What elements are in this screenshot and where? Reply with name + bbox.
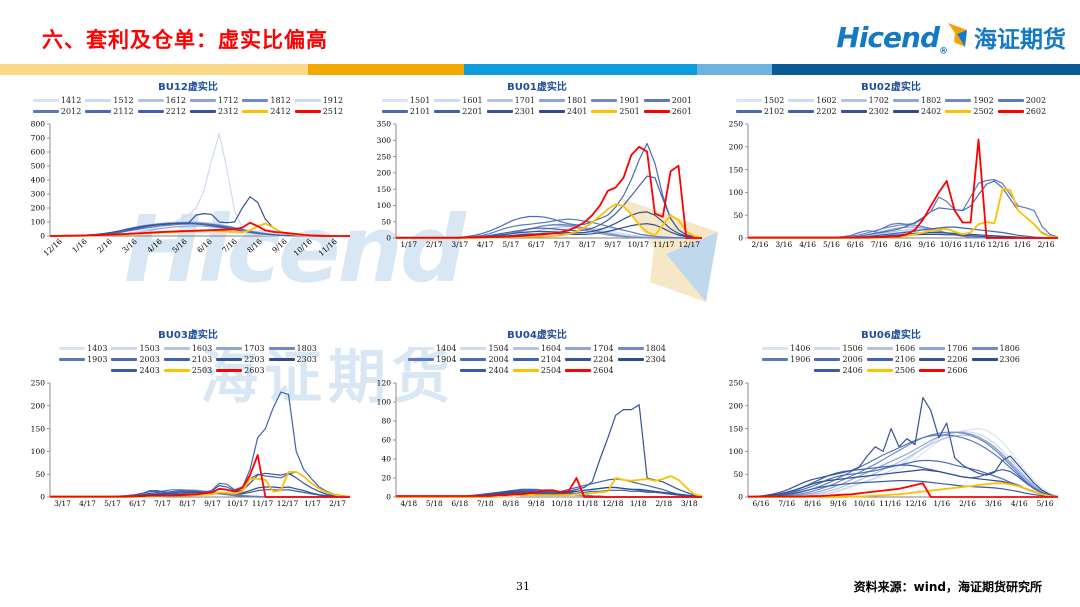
legend-label: 1506 (842, 344, 862, 353)
legend-row: 240325032603 (109, 366, 266, 375)
legend-item-2102[interactable]: 2102 (736, 107, 784, 116)
legend-label: 2503 (192, 366, 212, 375)
y-tick-label: 150 (377, 185, 392, 194)
x-tick-label: 7/17 (154, 499, 171, 508)
chart-plot-bu12: 010020030040050060070080012/161/162/163/… (18, 118, 358, 270)
legend-item-2402[interactable]: 2402 (893, 107, 941, 116)
legend-item-1712[interactable]: 1712 (190, 96, 238, 105)
legend-label: 1901 (619, 96, 639, 105)
legend-label: 1912 (323, 96, 343, 105)
legend-swatch-icon (164, 347, 190, 350)
legend-label: 2406 (842, 366, 862, 375)
legend-item-1502[interactable]: 1502 (736, 96, 784, 105)
legend-label: 1512 (113, 96, 133, 105)
legend-label: 2506 (895, 366, 915, 375)
x-tick-label: 9/17 (604, 240, 621, 249)
legend-item-1612[interactable]: 1612 (138, 96, 186, 105)
x-tick-label: 10/17 (627, 240, 649, 249)
chart-title-bu04: BU04虚实比 (364, 326, 710, 341)
legend-row: 19042004210422042304 (406, 355, 668, 364)
chart-legend-bu03: 1403150316031703180319032003210322032303… (18, 344, 358, 375)
color-bar-segment-2 (308, 64, 465, 75)
legend-item-1802[interactable]: 1802 (893, 96, 941, 105)
legend-label: 2606 (947, 366, 967, 375)
legend-swatch-icon (190, 110, 216, 113)
chart-legend-bu12: 1412151216121712181219122012211222122312… (18, 96, 358, 116)
legend-item-1602[interactable]: 1602 (788, 96, 836, 105)
legend-label: 2004 (488, 355, 508, 364)
x-tick-label: 9/16 (270, 237, 289, 255)
page-footer: 31 资料来源：wind，海证期货研究所 (0, 578, 1080, 607)
logo-wordmark: Hicend® (836, 24, 947, 57)
y-tick-label: 300 (31, 190, 46, 199)
legend-swatch-icon (111, 358, 137, 361)
legend-label: 1403 (87, 344, 107, 353)
x-tick-label: 7/17 (553, 240, 570, 249)
x-tick-label: 3/16 (120, 237, 139, 255)
color-bar-segment-5 (772, 64, 1080, 75)
legend-item-1903[interactable]: 1903 (59, 355, 107, 364)
legend-item-2001[interactable]: 2001 (644, 96, 692, 105)
legend-item-2306[interactable]: 2306 (972, 355, 1020, 364)
y-tick-label: 0 (386, 234, 391, 243)
legend-item-2112[interactable]: 2112 (85, 107, 133, 116)
legend-item-2002[interactable]: 2002 (998, 96, 1046, 105)
legend-swatch-icon (867, 358, 893, 361)
y-tick-label: 0 (40, 493, 45, 502)
y-tick-label: 100 (377, 201, 392, 210)
chart-legend-bu04: 1404150416041704180419042004210422042304… (364, 344, 710, 375)
legend-swatch-icon (814, 369, 840, 372)
legend-label: 2512 (323, 107, 343, 116)
chart-title-bu06: BU06虚实比 (716, 326, 1066, 341)
legend-label: 2102 (764, 107, 784, 116)
legend-swatch-icon (814, 358, 840, 361)
legend-item-2501[interactable]: 2501 (591, 107, 639, 116)
legend-item-2312[interactable]: 2312 (190, 107, 238, 116)
chart-plot-bu02: 0501001502002502/163/164/165/166/167/168… (716, 118, 1066, 258)
legend-swatch-icon (460, 369, 486, 372)
legend-label: 2401 (567, 107, 587, 116)
legend-label: 1804 (646, 344, 666, 353)
x-tick-label: 1/16 (933, 499, 950, 508)
legend-swatch-icon (33, 99, 59, 102)
y-tick-label: 400 (31, 176, 46, 185)
series-line-2103 (50, 392, 350, 497)
x-tick-label: 3/17 (451, 240, 468, 249)
x-tick-label: 5/17 (104, 499, 121, 508)
x-tick-label: 9/18 (528, 499, 545, 508)
legend-label: 1812 (270, 96, 290, 105)
legend-item-2504[interactable]: 2504 (513, 366, 561, 375)
legend-swatch-icon (242, 99, 268, 102)
series-line-2206 (748, 398, 1058, 497)
legend-label: 2112 (113, 107, 133, 116)
legend-label: 2412 (270, 107, 290, 116)
legend-label: 1604 (541, 344, 561, 353)
y-tick-label: 20 (381, 474, 391, 483)
legend-item-2412[interactable]: 2412 (242, 107, 290, 116)
x-tick-label: 3/16 (985, 499, 1002, 508)
x-tick-label: 4/16 (145, 237, 164, 255)
legend-item-2103[interactable]: 2103 (164, 355, 212, 364)
legend-label: 2312 (218, 107, 238, 116)
legend-swatch-icon (867, 347, 893, 350)
legend-swatch-icon (867, 369, 893, 372)
x-tick-label: 8/16 (245, 237, 264, 255)
legend-item-2202[interactable]: 2202 (788, 107, 836, 116)
legend-row: 19062006210622062306 (760, 355, 1022, 364)
legend-label: 2402 (921, 107, 941, 116)
legend-item-1403[interactable]: 1403 (59, 344, 107, 353)
legend-swatch-icon (111, 369, 137, 372)
legend-item-1701[interactable]: 1701 (487, 96, 535, 105)
legend-swatch-icon (539, 99, 565, 102)
legend-item-2403[interactable]: 2403 (111, 366, 159, 375)
x-tick-label: 6/17 (528, 240, 545, 249)
legend-item-1801[interactable]: 1801 (539, 96, 587, 105)
legend-item-2304[interactable]: 2304 (618, 355, 666, 364)
legend-swatch-icon (591, 99, 617, 102)
chart-legend-bu02: 1502160217021802190220022102220223022402… (716, 96, 1066, 116)
chart-plot-bu03: 0501001502002503/174/175/176/177/178/179… (18, 377, 358, 517)
legend-item-2012[interactable]: 2012 (33, 107, 81, 116)
y-tick-label: 100 (729, 447, 744, 456)
y-tick-label: 200 (31, 402, 46, 411)
y-tick-label: 0 (40, 232, 45, 241)
legend-swatch-icon (59, 358, 85, 361)
legend-label: 2101 (410, 107, 430, 116)
x-tick-label: 1/18 (630, 499, 647, 508)
y-tick-label: 60 (381, 436, 391, 445)
chart-cell-bu01: BU01虚实比150116011701180119012001210122012… (364, 78, 710, 258)
legend-item-1906[interactable]: 1906 (762, 355, 810, 364)
legend-item-2201[interactable]: 2201 (434, 107, 482, 116)
chart-legend-bu01: 1501160117011801190120012101220123012401… (364, 96, 710, 116)
legend-row: 210122012301240125012601 (380, 107, 694, 116)
legend-swatch-icon (111, 347, 137, 350)
legend-label: 1706 (947, 344, 967, 353)
legend-swatch-icon (513, 347, 539, 350)
legend-item-1606[interactable]: 1606 (867, 344, 915, 353)
legend-label: 1603 (192, 344, 212, 353)
legend-swatch-icon (190, 99, 216, 102)
y-tick-label: 200 (31, 204, 46, 213)
legend-swatch-icon (295, 99, 321, 102)
y-tick-label: 150 (729, 424, 744, 433)
chart-title-bu12: BU12虚实比 (18, 78, 358, 93)
legend-item-1506[interactable]: 1506 (814, 344, 862, 353)
y-tick-label: 50 (733, 211, 743, 220)
x-tick-label: 7/16 (778, 499, 795, 508)
x-tick-label: 11/16 (879, 499, 901, 508)
legend-swatch-icon (269, 347, 295, 350)
legend-item-2212[interactable]: 2212 (138, 107, 186, 116)
x-tick-label: 11/17 (653, 240, 675, 249)
legend-item-2601[interactable]: 2601 (644, 107, 692, 116)
legend-swatch-icon (788, 99, 814, 102)
series-line-2102 (748, 181, 1058, 238)
legend-swatch-icon (762, 347, 788, 350)
legend-label: 1501 (410, 96, 430, 105)
legend-label: 2103 (192, 355, 212, 364)
legend-item-2204[interactable]: 2204 (565, 355, 613, 364)
plot-area-bu03: 0501001502002503/174/175/176/177/178/179… (18, 377, 358, 517)
legend-item-2006[interactable]: 2006 (814, 355, 862, 364)
legend-swatch-icon (762, 358, 788, 361)
y-tick-label: 50 (381, 217, 391, 226)
legend-swatch-icon (919, 347, 945, 350)
legend-swatch-icon (295, 110, 321, 113)
legend-label: 2403 (139, 366, 159, 375)
legend-item-2606[interactable]: 2606 (919, 366, 967, 375)
legend-item-2604[interactable]: 2604 (565, 366, 613, 375)
legend-item-1601[interactable]: 1601 (434, 96, 482, 105)
legend-label: 1903 (87, 355, 107, 364)
x-tick-label: 2/17 (426, 240, 443, 249)
legend-swatch-icon (242, 110, 268, 113)
y-tick-label: 80 (381, 417, 391, 426)
legend-swatch-icon (841, 99, 867, 102)
legend-label: 2303 (297, 355, 317, 364)
legend-item-1412[interactable]: 1412 (33, 96, 81, 105)
x-tick-label: 6/16 (195, 237, 214, 255)
chart-cell-bu02: BU02虚实比150216021702180219022002210222022… (716, 78, 1066, 258)
legend-item-1904[interactable]: 1904 (408, 355, 456, 364)
x-tick-label: 10/16 (853, 499, 875, 508)
legend-item-2401[interactable]: 2401 (539, 107, 587, 116)
y-tick-label: 100 (729, 188, 744, 197)
x-tick-label: 10/16 (940, 240, 962, 249)
legend-item-1706[interactable]: 1706 (919, 344, 967, 353)
series-line-1912 (50, 134, 350, 236)
legend-swatch-icon (945, 99, 971, 102)
series-line-2201 (396, 176, 702, 238)
series-line-2212 (50, 223, 350, 236)
legend-label: 1404 (436, 344, 456, 353)
legend-label: 1906 (790, 355, 810, 364)
legend-item-2503[interactable]: 2503 (164, 366, 212, 375)
legend-label: 2501 (619, 107, 639, 116)
y-tick-label: 250 (729, 120, 744, 129)
legend-label: 1802 (921, 96, 941, 105)
x-tick-label: 4/17 (79, 499, 96, 508)
legend-swatch-icon (164, 358, 190, 361)
legend-item-1406[interactable]: 1406 (762, 344, 810, 353)
y-tick-label: 0 (386, 493, 391, 502)
legend-swatch-icon (513, 369, 539, 372)
legend-label: 2006 (842, 355, 862, 364)
legend-swatch-icon (972, 347, 998, 350)
y-tick-label: 0 (738, 493, 743, 502)
header-color-bar (0, 64, 1080, 75)
legend-item-2104[interactable]: 2104 (513, 355, 561, 364)
legend-swatch-icon (138, 110, 164, 113)
chart-plot-bu04: 0204060801001204/185/186/187/188/189/181… (364, 377, 710, 517)
legend-swatch-icon (644, 99, 670, 102)
page-header: 六、套利及仓单：虚实比偏高 Hicend® 海证期货 (0, 0, 1080, 64)
legend-label: 1904 (436, 355, 456, 364)
legend-item-1806[interactable]: 1806 (972, 344, 1020, 353)
legend-label: 1703 (244, 344, 264, 353)
legend-item-2004[interactable]: 2004 (460, 355, 508, 364)
legend-item-1901[interactable]: 1901 (591, 96, 639, 105)
legend-label: 2502 (973, 107, 993, 116)
legend-item-2404[interactable]: 2404 (460, 366, 508, 375)
legend-row: 150216021702180219022002 (734, 96, 1048, 105)
legend-swatch-icon (513, 358, 539, 361)
legend-item-1702[interactable]: 1702 (841, 96, 889, 105)
legend-item-1902[interactable]: 1902 (945, 96, 993, 105)
legend-item-1912[interactable]: 1912 (295, 96, 343, 105)
legend-swatch-icon (565, 369, 591, 372)
x-tick-label: 7/16 (871, 240, 888, 249)
x-tick-label: 9/17 (204, 499, 221, 508)
legend-label: 2603 (244, 366, 264, 375)
legend-label: 1704 (593, 344, 613, 353)
legend-item-2203[interactable]: 2203 (216, 355, 264, 364)
legend-item-1512[interactable]: 1512 (85, 96, 133, 105)
x-tick-label: 1/16 (1014, 240, 1031, 249)
y-tick-label: 100 (31, 218, 46, 227)
legend-item-1803[interactable]: 1803 (269, 344, 317, 353)
y-tick-label: 100 (31, 447, 46, 456)
x-tick-label: 2/18 (655, 499, 672, 508)
x-tick-label: 12/18 (602, 499, 624, 508)
color-bar-segment-3 (464, 64, 696, 75)
x-tick-label: 4/16 (799, 240, 816, 249)
series-line-2002 (748, 180, 1058, 238)
y-tick-label: 150 (31, 424, 46, 433)
legend-item-2406[interactable]: 2406 (814, 366, 862, 375)
legend-item-2301[interactable]: 2301 (487, 107, 535, 116)
legend-swatch-icon (788, 110, 814, 113)
legend-item-2003[interactable]: 2003 (111, 355, 159, 364)
x-tick-label: 1/16 (70, 237, 89, 255)
legend-item-1812[interactable]: 1812 (242, 96, 290, 105)
legend-item-1501[interactable]: 1501 (382, 96, 430, 105)
color-bar-segment-1 (0, 64, 308, 75)
legend-label: 1801 (567, 96, 587, 105)
legend-item-2512[interactable]: 2512 (295, 107, 343, 116)
x-tick-label: 6/17 (129, 499, 146, 508)
x-tick-label: 1/17 (304, 499, 321, 508)
x-tick-label: 2/16 (959, 499, 976, 508)
chart-cell-bu12: BU12虚实比141215121612171218121912201221122… (18, 78, 358, 270)
legend-swatch-icon (434, 99, 460, 102)
legend-swatch-icon (539, 110, 565, 113)
series-line-2204 (396, 405, 702, 497)
legend-label: 1712 (218, 96, 238, 105)
legend-item-2603[interactable]: 2603 (216, 366, 264, 375)
legend-item-1804[interactable]: 1804 (618, 344, 666, 353)
legend-label: 2602 (1026, 107, 1046, 116)
legend-item-2502[interactable]: 2502 (945, 107, 993, 116)
legend-item-1704[interactable]: 1704 (565, 344, 613, 353)
legend-item-2506[interactable]: 2506 (867, 366, 915, 375)
legend-item-2602[interactable]: 2602 (998, 107, 1046, 116)
legend-item-2206[interactable]: 2206 (919, 355, 967, 364)
legend-item-2106[interactable]: 2106 (867, 355, 915, 364)
x-tick-label: 8/16 (895, 240, 912, 249)
x-tick-label: 11/16 (317, 237, 339, 258)
x-tick-label: 7/16 (220, 237, 239, 255)
legend-swatch-icon (85, 99, 111, 102)
legend-swatch-icon (644, 110, 670, 113)
legend-swatch-icon (164, 369, 190, 372)
y-tick-label: 100 (377, 398, 392, 407)
legend-item-1503[interactable]: 1503 (111, 344, 159, 353)
legend-item-1604[interactable]: 1604 (513, 344, 561, 353)
legend-label: 2002 (1026, 96, 1046, 105)
legend-item-2302[interactable]: 2302 (841, 107, 889, 116)
color-bar-segment-4 (697, 64, 773, 75)
x-tick-label: 9/16 (918, 240, 935, 249)
legend-label: 2106 (895, 355, 915, 364)
legend-item-2101[interactable]: 2101 (382, 107, 430, 116)
x-tick-label: 5/16 (170, 237, 189, 255)
legend-label: 1602 (816, 96, 836, 105)
legend-row: 14061506160617061806 (760, 344, 1022, 353)
legend-swatch-icon (434, 110, 460, 113)
x-tick-label: 11/18 (576, 499, 598, 508)
company-logo: Hicend® 海证期货 (836, 20, 1066, 60)
y-tick-label: 150 (729, 165, 744, 174)
chart-plot-bu01: 0501001502002503003501/172/173/174/175/1… (364, 118, 710, 258)
legend-swatch-icon (138, 99, 164, 102)
legend-swatch-icon (893, 110, 919, 113)
legend-item-1603[interactable]: 1603 (164, 344, 212, 353)
legend-item-1404[interactable]: 1404 (408, 344, 456, 353)
y-tick-label: 250 (377, 152, 392, 161)
legend-label: 2604 (593, 366, 613, 375)
x-tick-label: 12/17 (277, 499, 299, 508)
legend-item-1703[interactable]: 1703 (216, 344, 264, 353)
x-tick-label: 10/18 (551, 499, 573, 508)
x-tick-label: 10/16 (292, 237, 314, 258)
legend-swatch-icon (487, 99, 513, 102)
chart-cell-bu04: BU04虚实比140415041604170418041904200421042… (364, 326, 710, 517)
legend-swatch-icon (460, 347, 486, 350)
x-tick-label: 5/16 (1037, 499, 1054, 508)
y-tick-label: 800 (31, 120, 46, 129)
legend-swatch-icon (814, 347, 840, 350)
plot-area-bu12: 010020030040050060070080012/161/162/163/… (18, 118, 358, 270)
x-tick-label: 4/17 (477, 240, 494, 249)
legend-item-2303[interactable]: 2303 (269, 355, 317, 364)
x-tick-label: 3/16 (775, 240, 792, 249)
legend-label: 1601 (462, 96, 482, 105)
legend-label: 1806 (1000, 344, 1020, 353)
y-tick-label: 250 (729, 379, 744, 388)
plot-area-bu04: 0204060801001204/185/186/187/188/189/181… (364, 377, 710, 517)
logo-chinese-name: 海证期货 (974, 29, 1066, 52)
legend-row: 19032003210322032303 (57, 355, 319, 364)
chart-cell-bu03: BU03虚实比140315031603170318031903200321032… (18, 326, 358, 517)
legend-label: 2203 (244, 355, 264, 364)
legend-swatch-icon (919, 369, 945, 372)
series-line-2101 (396, 144, 702, 239)
legend-item-1504[interactable]: 1504 (460, 344, 508, 353)
legend-label: 1502 (764, 96, 784, 105)
legend-label: 2304 (646, 355, 666, 364)
legend-swatch-icon (487, 110, 513, 113)
x-tick-label: 10/17 (227, 499, 249, 508)
legend-label: 1803 (297, 344, 317, 353)
x-tick-label: 5/17 (502, 240, 519, 249)
chart-title-bu02: BU02虚实比 (716, 78, 1066, 93)
x-tick-label: 8/16 (804, 499, 821, 508)
